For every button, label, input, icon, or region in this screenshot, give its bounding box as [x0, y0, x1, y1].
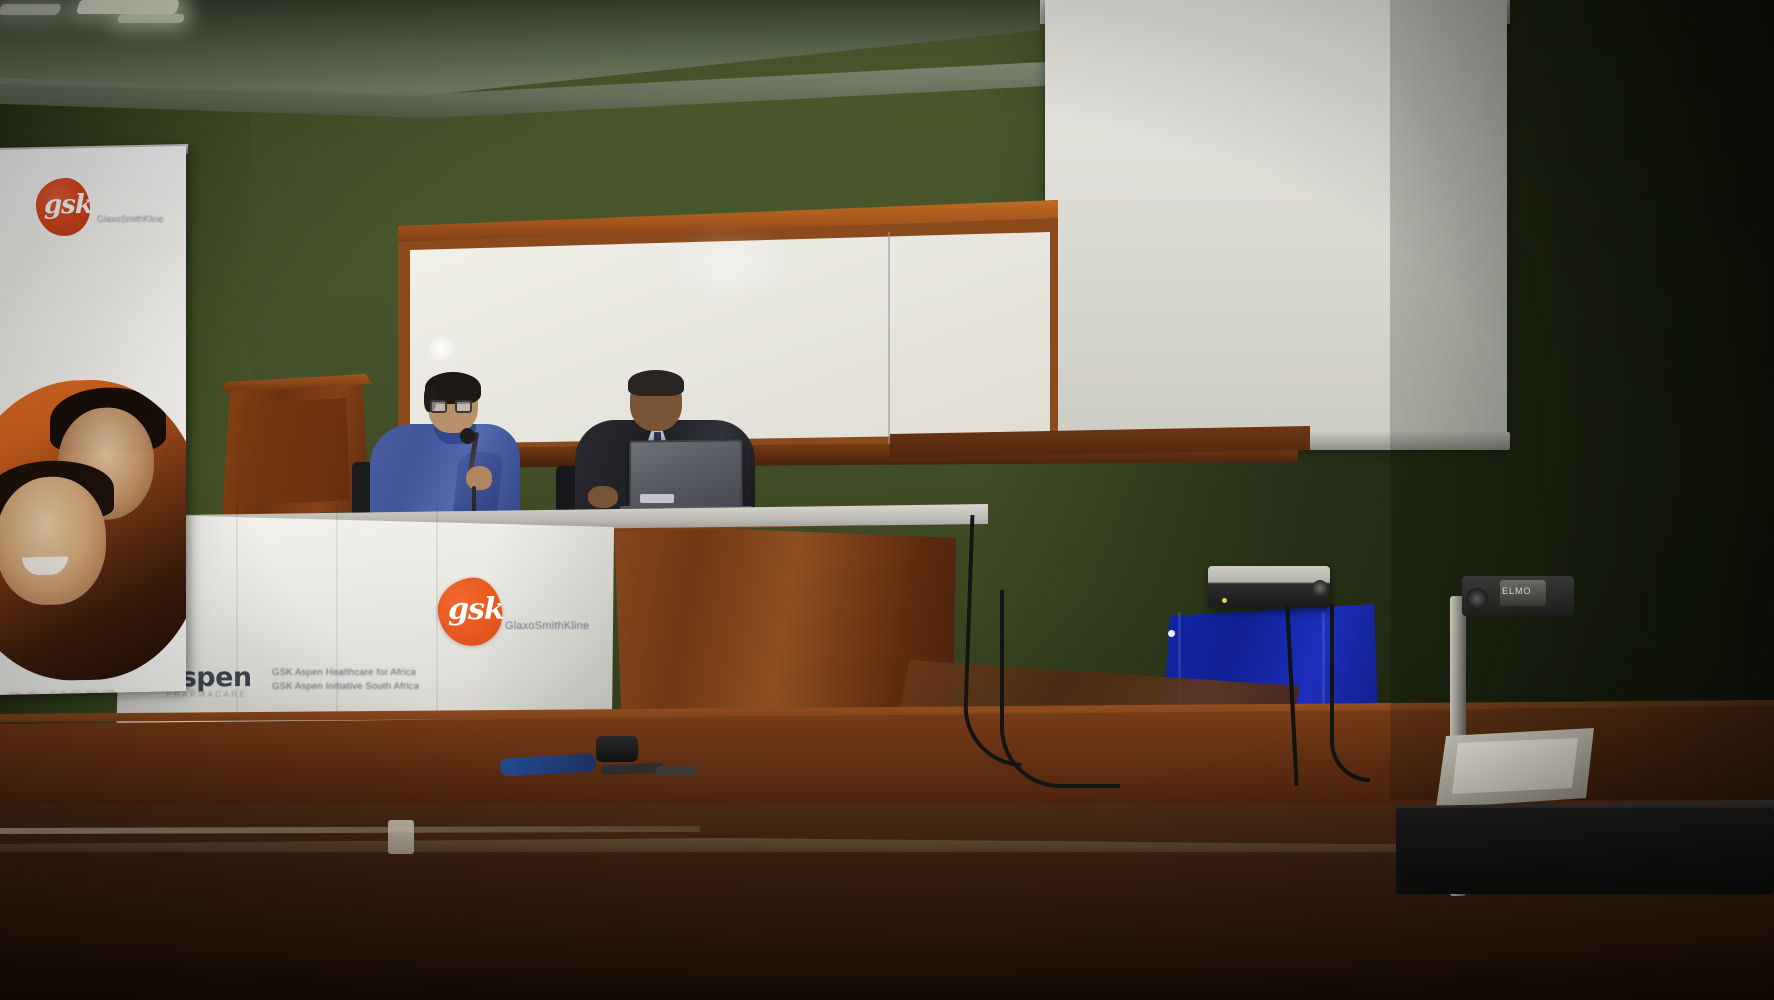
eyeglass-lens-left [430, 400, 447, 413]
ceiling-light-strip-2 [117, 14, 185, 23]
table-banner-line-2: GSK Aspen Initiative South Africa [272, 680, 432, 694]
projector-lens-icon [1312, 580, 1328, 596]
floor-item-dark-2 [656, 766, 696, 775]
rollup-photo [0, 378, 186, 683]
floor-item-dark-1 [600, 763, 664, 775]
photograph-scene: aspen PHARMACARE GSK Aspen Healthcare fo… [0, 0, 1774, 1000]
microphone-icon [460, 428, 475, 444]
speaker-left-hand [466, 466, 492, 490]
speaker-right-hair [628, 370, 684, 396]
speaker-right-hand [588, 486, 618, 508]
rollup-gsk-wordmark: gsk [44, 190, 92, 220]
whiteboard-seam [888, 232, 890, 444]
projector-status-led [1222, 598, 1227, 603]
cable-2 [1000, 590, 1120, 788]
eyeglass-lens-right [455, 400, 472, 413]
gsk-rollup-banner: DO MORE, FEEL BETTER, LIVE LONGER www.gs… [0, 146, 186, 695]
right-shadow-overlay [1390, 0, 1774, 800]
microphone-base [596, 736, 638, 762]
aspen-subtitle: PHARMACARE [166, 690, 247, 699]
floor-item-blue [500, 754, 597, 777]
gsk-wordmark: gsk [448, 592, 504, 627]
rollup-gsk-subtitle: GlaxoSmithKline [97, 214, 164, 224]
podium-panel [238, 398, 350, 506]
cable-4 [1330, 604, 1370, 782]
stand-highlight-1 [1168, 630, 1175, 637]
wall-socket [388, 820, 414, 854]
ceiling-lights-icon [76, 0, 180, 14]
eyeglasses-icon [430, 400, 474, 413]
table-banner-line-1: GSK Aspen Healthcare for Africa [272, 666, 432, 680]
visualiser-base [1396, 808, 1774, 894]
table-banner-text: GSK Aspen Healthcare for Africa GSK Aspe… [272, 666, 432, 694]
whiteboard-glare-spot [428, 336, 454, 362]
ceiling-light-strip-3 [0, 4, 62, 15]
laptop-logo [640, 494, 674, 503]
rollup-photo-person-1-face [0, 476, 106, 606]
visualiser-brand-label: ELMO [1502, 586, 1532, 596]
visualiser-stage-surface [1452, 738, 1580, 794]
visualiser-camera-icon [1466, 588, 1488, 610]
whiteboard-glare-large [670, 240, 790, 290]
gsk-subtitle: GlaxoSmithKline [505, 620, 589, 632]
